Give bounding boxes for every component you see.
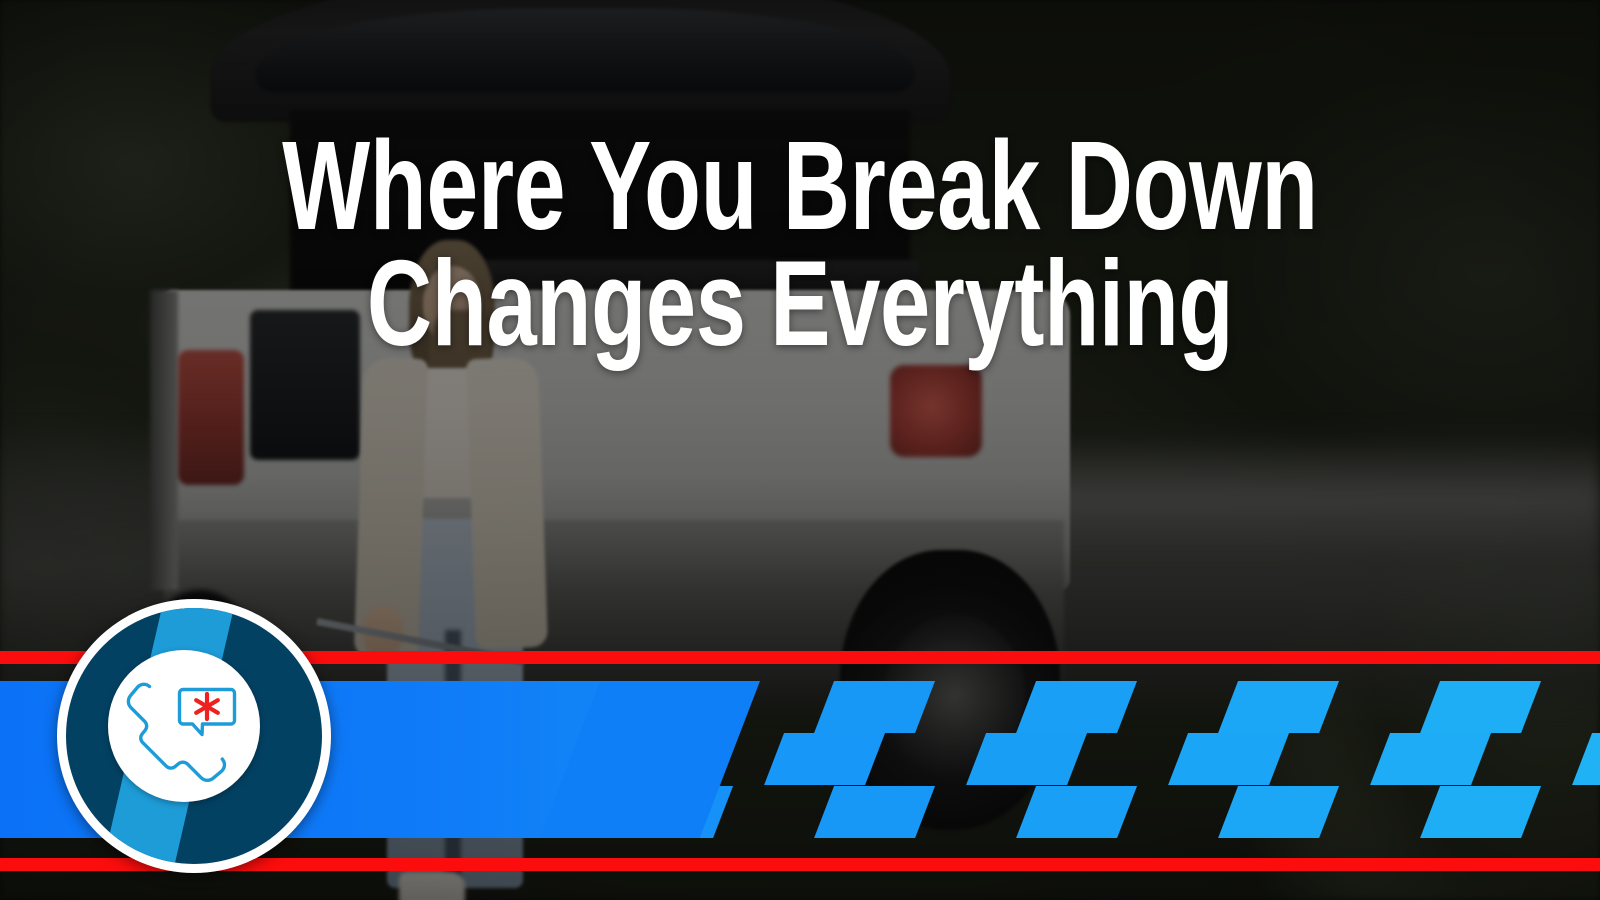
headline-line-2: Changes Everything (208, 246, 1392, 362)
brand-logo-badge[interactable] (57, 599, 331, 873)
asterisk-icon (196, 694, 218, 719)
checker-cell (1420, 681, 1541, 733)
hero-banner-stage: Where You Break Down Changes Everything (0, 0, 1600, 900)
checker-cell (1167, 733, 1288, 785)
checker-cell (1016, 786, 1137, 838)
checker-cell (1571, 733, 1600, 785)
checker-cell (1420, 786, 1541, 838)
checker-cell (965, 733, 1086, 785)
checker-cell (1016, 681, 1137, 733)
checker-cell (763, 733, 884, 785)
checker-cell (1369, 733, 1490, 785)
checker-cell (814, 681, 935, 733)
logo-icon-wrapper (108, 650, 260, 802)
checker-cell (1218, 786, 1339, 838)
page-title: Where You Break Down Changes Everything (208, 126, 1392, 362)
phone-handset-icon (128, 684, 224, 780)
checker-cell (814, 786, 935, 838)
headline-line-1: Where You Break Down (208, 126, 1392, 246)
checker-cell (1218, 681, 1339, 733)
